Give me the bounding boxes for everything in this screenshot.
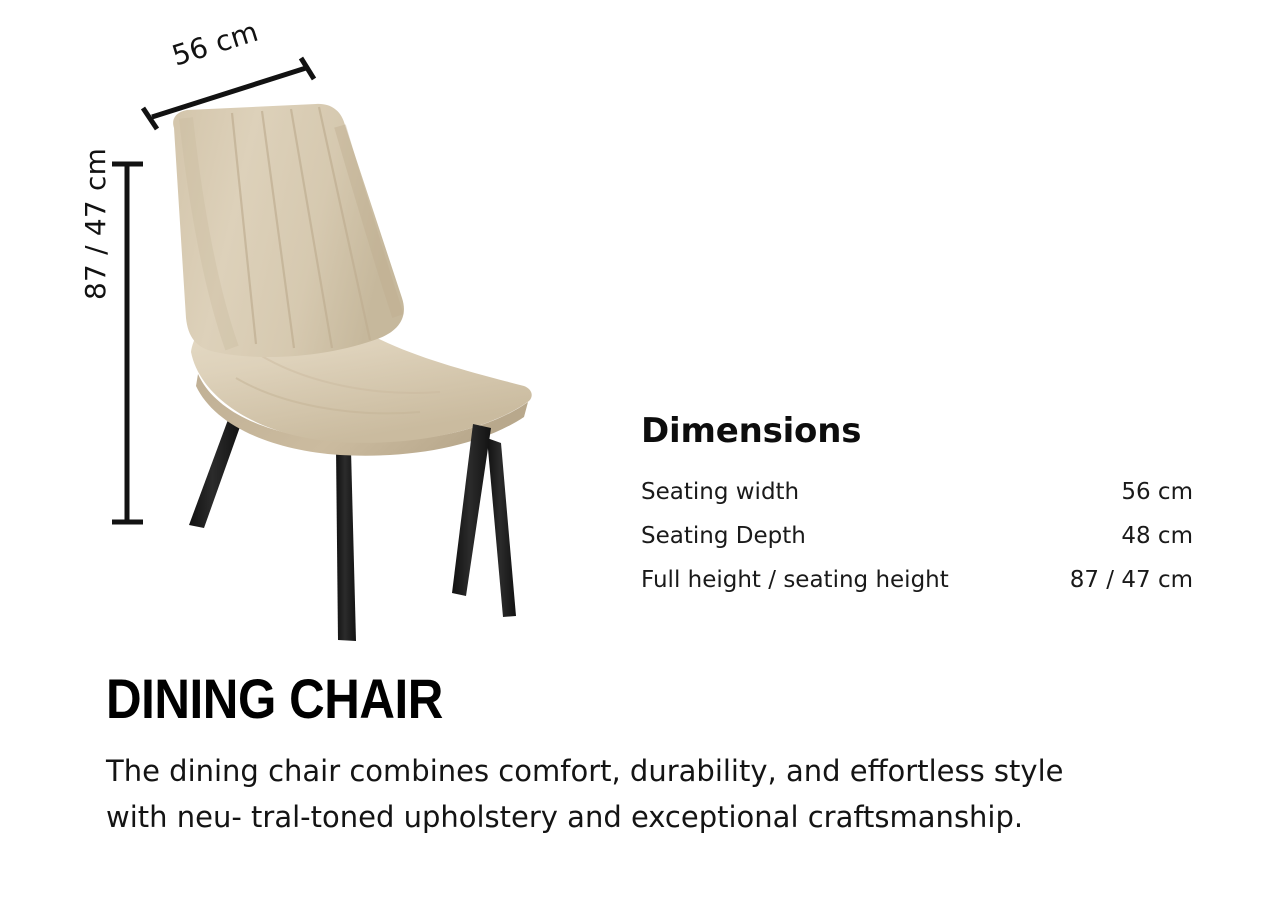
chair-leg-front-right [452,424,491,596]
spec-value-seating-width: 56 cm [1121,470,1193,514]
product-description-line-1: The dining chair combines comfort, durab… [106,748,1216,794]
product-illustration: 56 cm 87 / 47 cm [0,0,640,670]
height-dimension-line [112,164,143,522]
spec-value-seating-depth: 48 cm [1121,514,1193,558]
dimensions-heading: Dimensions [641,409,1193,453]
spec-label-seating-width: Seating width [641,470,799,514]
spec-row-full-height: Full height / seating height 87 / 47 cm [641,558,1193,602]
spec-value-full-height: 87 / 47 cm [1070,558,1193,602]
chair-leg-front-left [336,447,356,641]
spec-row-seating-depth: Seating Depth 48 cm [641,514,1193,558]
chair-leg-rear-right [487,438,516,617]
chair-leg-rear-left [189,417,241,528]
spec-label-full-height: Full height / seating height [641,558,949,602]
dimensions-panel: Dimensions Seating width 56 cm Seating D… [641,409,1193,602]
product-title: DINING CHAIR [106,668,443,730]
spec-row-seating-width: Seating width 56 cm [641,470,1193,514]
product-spec-sheet: 56 cm 87 / 47 cm Dimensions Seating widt… [0,0,1280,914]
height-dimension-label: 87 / 47 cm [79,148,112,300]
spec-label-seating-depth: Seating Depth [641,514,806,558]
dining-chair-image [0,0,640,670]
product-description-line-2: with neu- tral-toned upholstery and exce… [106,794,1216,840]
product-description: The dining chair combines comfort, durab… [106,748,1216,840]
